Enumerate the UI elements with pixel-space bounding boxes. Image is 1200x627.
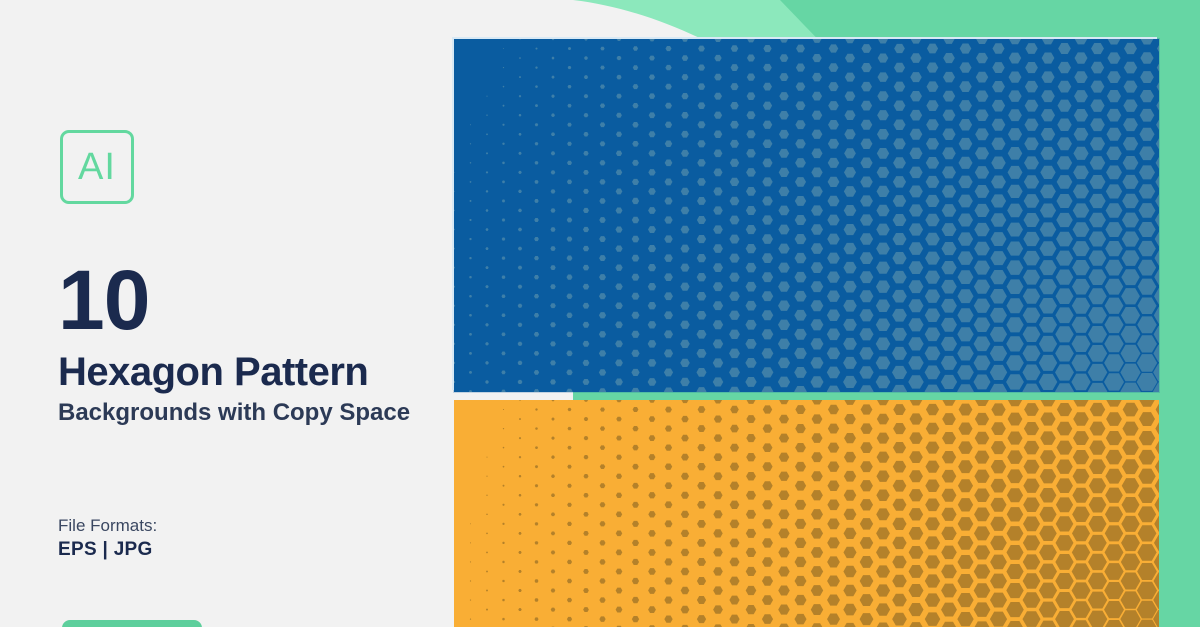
- info-column: AI 10 Hexagon Pattern Backgrounds with C…: [0, 0, 454, 627]
- file-formats-label: File Formats:: [58, 517, 157, 534]
- ai-badge-label: AI: [78, 148, 116, 186]
- product-banner-canvas: AI 10 Hexagon Pattern Backgrounds with C…: [0, 0, 1200, 627]
- file-formats-value: EPS | JPG: [58, 540, 153, 559]
- orange-hexagon-pattern: [454, 400, 1159, 627]
- blue-hexagon-pattern: [454, 39, 1159, 392]
- page-subtitle: Backgrounds with Copy Space: [58, 398, 438, 429]
- cta-button[interactable]: [62, 620, 202, 627]
- ai-file-icon: AI: [60, 130, 134, 204]
- page-title: Hexagon Pattern: [58, 352, 368, 392]
- pack-count: 10: [58, 258, 149, 342]
- blue-hexagon-banner[interactable]: [454, 39, 1159, 392]
- orange-hexagon-banner[interactable]: [454, 400, 1159, 627]
- mint-right-panel: [1159, 0, 1200, 627]
